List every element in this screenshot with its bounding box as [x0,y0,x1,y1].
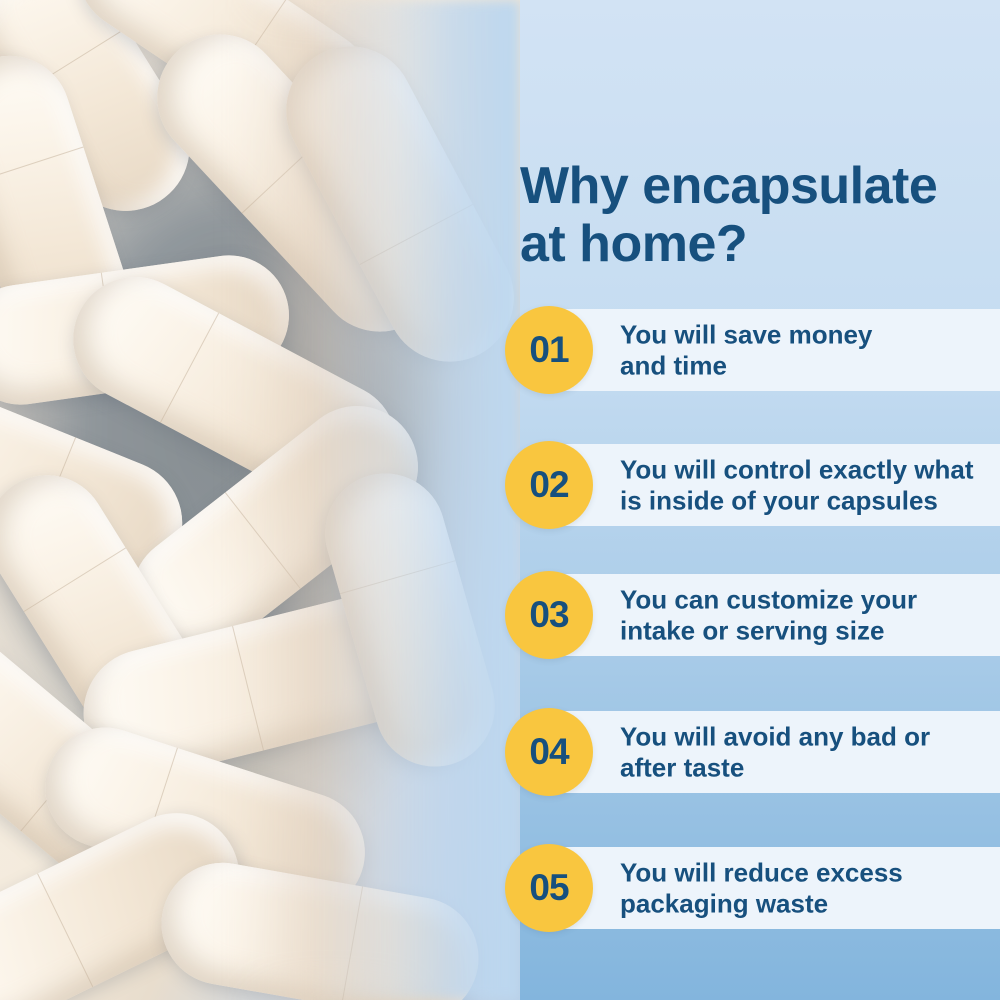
list-item: 02 You will control exactly what is insi… [535,444,1000,526]
list-item-number-badge: 04 [505,708,593,796]
list-item: 04 You will avoid any bad or after taste [535,711,1000,793]
list-item-number-badge: 03 [505,571,593,659]
infographic-poster: Why encapsulate at home? 01 You will sav… [0,0,1000,1000]
list-item-number-badge: 01 [505,306,593,394]
list-item-text: You can customize your intake or serving… [620,584,982,645]
list-item: 05 You will reduce excess packaging wast… [535,847,1000,929]
list-item-number-badge: 02 [505,441,593,529]
list-item-number-badge: 05 [505,844,593,932]
list-item-text: You will save money and time [620,319,982,380]
list-item: 03 You can customize your intake or serv… [535,574,1000,656]
benefits-list: 01 You will save money and time 02 You w… [0,0,1000,1000]
list-item: 01 You will save money and time [535,309,1000,391]
list-item-text: You will control exactly what is inside … [620,454,982,515]
list-item-text: You will reduce excess packaging waste [620,857,982,918]
list-item-text: You will avoid any bad or after taste [620,721,982,782]
